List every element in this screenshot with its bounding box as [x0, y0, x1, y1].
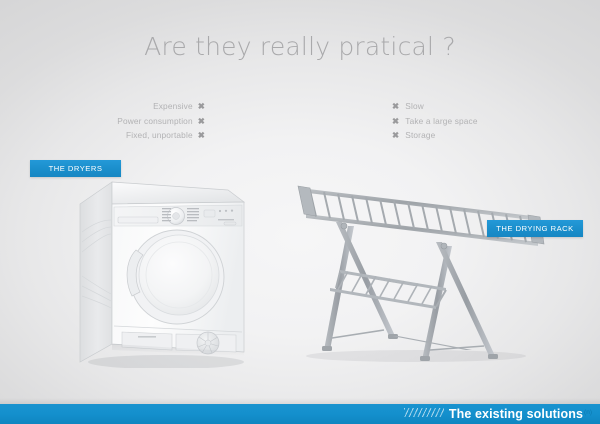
list-item: Fixed, unportable✖: [60, 128, 205, 143]
footer-superscript: (n): [584, 409, 592, 416]
dryer-start-button: [224, 222, 236, 225]
dryer-brand-mark: [218, 219, 234, 220]
cross-icon: ✖: [392, 130, 399, 140]
dryer-ground-shadow: [88, 355, 244, 368]
hatch-lines-icon: [404, 408, 444, 417]
dryer-knob-center: [173, 213, 180, 220]
bullet-label: Expensive: [153, 101, 193, 111]
bullet-label: Storage: [405, 130, 435, 140]
tumble-dryer-illustration: [78, 176, 248, 368]
rack-right-pivot: [441, 243, 447, 249]
dryer-door-glass: [139, 235, 219, 315]
rack-left-pivot: [341, 223, 347, 229]
dryer-filter-flap-label: [138, 336, 156, 338]
callout-the-dryers[interactable]: THE DRYERS: [30, 160, 121, 177]
cross-icon: ✖: [198, 101, 205, 111]
bullet-label: Take a large space: [405, 116, 477, 126]
list-item: ✖Storage: [392, 128, 572, 143]
list-item: ✖Slow: [392, 99, 572, 114]
bullet-label: Fixed, unportable: [126, 130, 193, 140]
cross-icon: ✖: [392, 116, 399, 126]
bullet-label: Power consumption: [117, 116, 192, 126]
dryers-bullet-list: Expensive✖ Power consumption✖ Fixed, unp…: [60, 99, 205, 143]
list-item: Expensive✖: [60, 99, 205, 114]
rack-right-rear-leg: [436, 242, 496, 358]
rack-right-tie: [430, 346, 484, 350]
cross-icon: ✖: [198, 130, 205, 140]
rack-left-tie: [332, 330, 384, 338]
drying-rack-bullet-list: ✖Slow ✖Take a large space ✖Storage: [392, 99, 572, 143]
footer-bar: The existing solutions (n): [0, 404, 600, 424]
list-item: ✖Take a large space: [392, 114, 572, 129]
bullet-label: Slow: [405, 101, 424, 111]
dryer-display: [204, 210, 215, 217]
dryer-vent-hub: [205, 340, 211, 346]
rack-top-far-rail: [300, 188, 532, 220]
page-title: Are they really pratical ?: [0, 32, 600, 61]
dryer-top-surface: [112, 182, 244, 204]
footer-content: The existing solutions (n): [404, 407, 600, 421]
footer-title: The existing solutions: [449, 407, 583, 421]
cross-icon: ✖: [198, 116, 205, 126]
list-item: Power consumption✖: [60, 114, 205, 129]
slide-canvas: Are they really pratical ? Expensive✖ Po…: [0, 0, 600, 424]
drying-rack-illustration: [296, 160, 546, 365]
callout-the-drying-rack[interactable]: THE DRYING RACK: [487, 220, 583, 237]
cross-icon: ✖: [392, 101, 399, 111]
dryer-drawer-handle: [118, 217, 158, 223]
dryer-side-panel: [80, 182, 112, 362]
